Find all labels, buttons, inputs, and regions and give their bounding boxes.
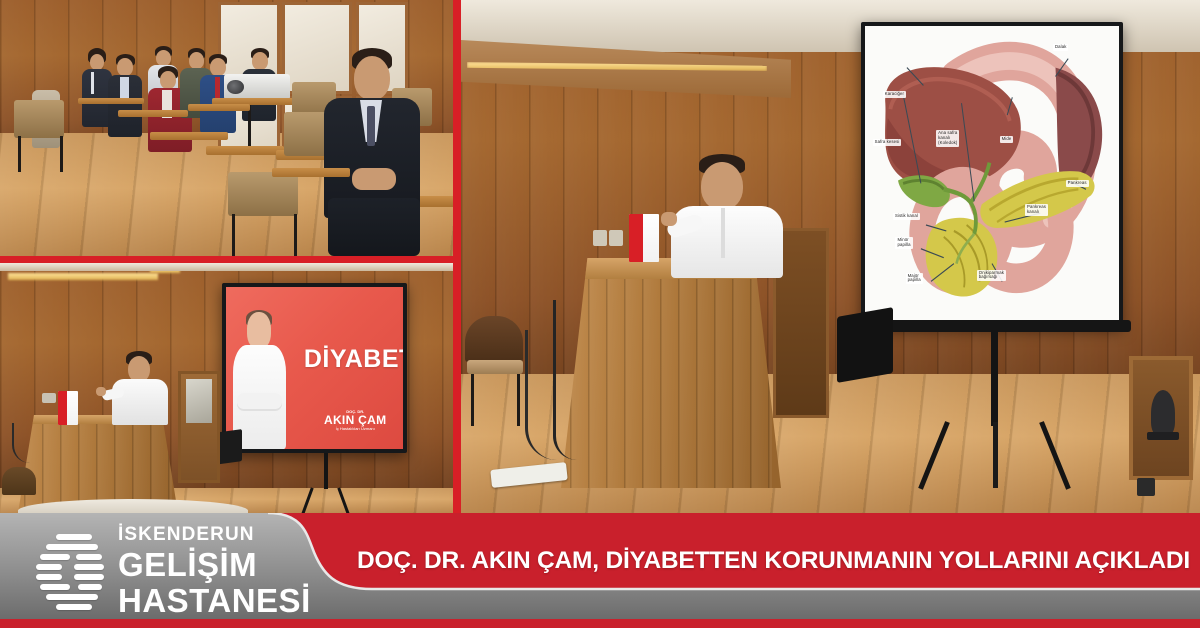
hospital-brand: İSKENDERUN GELİŞİM HASTANESİ bbox=[34, 523, 354, 618]
speaker-with-diyabet-slide-photo: DİYABET DOÇ. DR. AKIN ÇAM İç Hastalıklar… bbox=[0, 263, 453, 513]
anatomy-label: Onikiparmak bağırsağı bbox=[977, 270, 1006, 282]
slide-presenter: DOÇ. DR. AKIN ÇAM İç Hastalıkları Uzmanı bbox=[315, 410, 396, 431]
hospital-logo-mark bbox=[34, 532, 104, 610]
desk bbox=[118, 110, 188, 117]
podium bbox=[561, 258, 781, 488]
desk bbox=[188, 104, 250, 111]
speaker bbox=[671, 154, 783, 274]
slide-title: DİYABET bbox=[304, 345, 403, 374]
screen-case bbox=[837, 307, 893, 383]
slide-presenter-name: AKIN ÇAM bbox=[315, 414, 396, 427]
news-card: DİYABET DOÇ. DR. AKIN ÇAM İç Hastalıklar… bbox=[0, 0, 1200, 628]
desk bbox=[150, 132, 228, 140]
projector bbox=[224, 74, 290, 100]
anatomy-label: Sistik kanal bbox=[893, 213, 920, 220]
table-flag bbox=[58, 391, 78, 425]
brand-line-iskenderun: İSKENDERUN bbox=[118, 525, 311, 544]
slide-doctor-photo bbox=[233, 310, 286, 449]
screen-tripod bbox=[296, 453, 356, 513]
anatomy-slide: Dalak Karaciğer Safra kesesi Ana safra k… bbox=[865, 26, 1119, 323]
anatomy-label: Ana safra kanalı (Koledok) bbox=[936, 130, 959, 147]
audience-photo bbox=[0, 0, 453, 256]
trophy bbox=[1151, 390, 1175, 436]
anatomy-label: Majör papilla bbox=[906, 273, 923, 285]
photo-collage: DİYABET DOÇ. DR. AKIN ÇAM İç Hastalıklar… bbox=[0, 0, 1200, 513]
audience-person-foreground bbox=[322, 48, 422, 256]
chair bbox=[228, 172, 298, 216]
diyabet-slide: DİYABET DOÇ. DR. AKIN ÇAM İç Hastalıklar… bbox=[226, 287, 403, 449]
news-headline: DOÇ. DR. AKIN ÇAM, DİYABETTEN KORUNMANIN… bbox=[360, 539, 1190, 583]
slide-presenter-sub: İç Hastalıkları Uzmanı bbox=[315, 427, 396, 431]
hospital-brand-text: İSKENDERUN GELİŞİM HASTANESİ bbox=[118, 525, 311, 617]
cable bbox=[553, 300, 577, 460]
chair bbox=[14, 100, 64, 138]
brand-line-hastanesi: HASTANESİ bbox=[118, 584, 311, 617]
anatomy-label: Safra kesesi bbox=[873, 139, 902, 146]
table-flag bbox=[629, 214, 659, 262]
wall-socket bbox=[593, 230, 607, 246]
screen-tripod bbox=[931, 330, 1081, 490]
chair bbox=[2, 467, 36, 495]
anatomy-label: Mide bbox=[1000, 136, 1014, 143]
desk bbox=[206, 146, 284, 155]
anatomy-label: Minör papilla bbox=[895, 237, 912, 249]
projection-screen: Dalak Karaciğer Safra kesesi Ana safra k… bbox=[861, 22, 1123, 327]
trophy-base bbox=[1147, 432, 1179, 440]
wall-socket bbox=[42, 393, 56, 403]
footer-banner: İSKENDERUN GELİŞİM HASTANESİ DOÇ. DR. AK… bbox=[0, 513, 1200, 628]
anatomy-label: Pankreas bbox=[1066, 180, 1089, 187]
footer-bottom-strip bbox=[0, 619, 1200, 628]
chair bbox=[465, 316, 523, 362]
wall-socket bbox=[1137, 478, 1155, 496]
wall-cabinet-glass bbox=[186, 379, 212, 423]
speaker-with-anatomy-slide-photo: Dalak Karaciğer Safra kesesi Ana safra k… bbox=[461, 0, 1200, 513]
anatomy-label: Pankreas kanalı bbox=[1025, 204, 1048, 216]
anatomy-label: Karaciğer bbox=[883, 91, 906, 98]
wall-socket bbox=[609, 230, 623, 246]
chair-seat bbox=[467, 360, 523, 374]
speaker bbox=[112, 351, 168, 423]
anatomy-label: Dalak bbox=[1053, 44, 1069, 51]
projection-screen: DİYABET DOÇ. DR. AKIN ÇAM İç Hastalıklar… bbox=[222, 283, 407, 453]
desk bbox=[78, 98, 144, 104]
desk bbox=[272, 168, 350, 177]
brand-line-gelisim: GELİŞİM bbox=[118, 548, 311, 581]
